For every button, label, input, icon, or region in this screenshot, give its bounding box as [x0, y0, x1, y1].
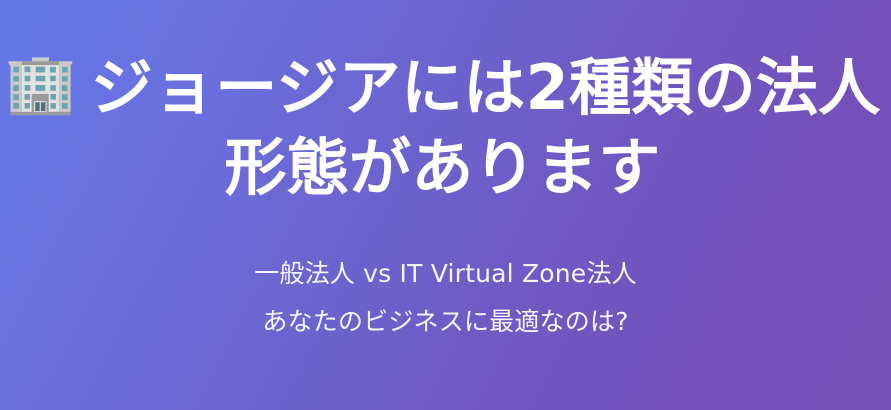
subtitle-line-1: 一般法人 vs IT Virtual Zone法人	[0, 250, 891, 298]
office-building-icon: 🏢	[4, 54, 76, 113]
headline-first-row: 🏢 ジョージアには2種類の法人	[14, 46, 871, 130]
subtitle-line-2: あなたのビジネスに最適なのは?	[0, 298, 891, 346]
title-slide: 🏢 ジョージアには2種類の法人 形態があります 一般法人 vs IT Virtu…	[0, 0, 891, 410]
page-title-line-1: ジョージアには2種類の法人	[91, 46, 881, 130]
subtitle-block: 一般法人 vs IT Virtual Zone法人 あなたのビジネスに最適なのは…	[0, 250, 891, 346]
page-title-line-2: 形態があります	[224, 130, 660, 206]
headline-block: 🏢 ジョージアには2種類の法人 形態があります	[0, 46, 891, 206]
